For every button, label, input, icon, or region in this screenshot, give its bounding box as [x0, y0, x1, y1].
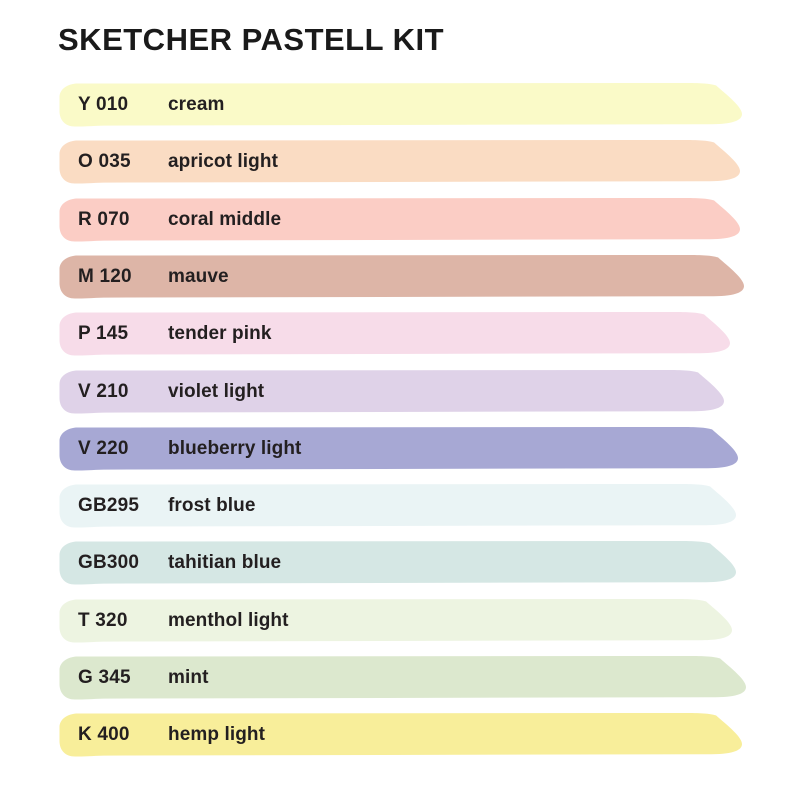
- color-swatch-stroke: [58, 82, 744, 128]
- swatch-list: Y 010creamO 035apricot lightR 070coral m…: [0, 0, 800, 800]
- swatch-name: tahitian blue: [168, 540, 281, 586]
- color-swatch-page: SKETCHER PASTELL KIT Y 010creamO 035apri…: [0, 0, 800, 800]
- swatch-name: coral middle: [168, 197, 281, 243]
- swatch-code: T 320: [78, 598, 128, 644]
- color-swatch-stroke: [58, 197, 742, 243]
- swatch-name: violet light: [168, 369, 264, 415]
- swatch-name: mint: [168, 655, 209, 701]
- color-swatch-stroke: [58, 311, 732, 357]
- swatch-row[interactable]: G 345mint: [58, 655, 748, 701]
- swatch-code: K 400: [78, 712, 130, 758]
- swatch-row[interactable]: P 145tender pink: [58, 311, 732, 357]
- swatch-code: V 210: [78, 369, 129, 415]
- color-swatch-stroke: [58, 369, 726, 415]
- color-swatch-stroke: [58, 426, 740, 472]
- swatch-code: GB300: [78, 540, 139, 586]
- swatch-name: mauve: [168, 254, 229, 300]
- swatch-name: tender pink: [168, 311, 272, 357]
- swatch-row[interactable]: O 035apricot light: [58, 139, 742, 185]
- swatch-code: R 070: [78, 197, 130, 243]
- swatch-code: GB295: [78, 483, 139, 529]
- swatch-name: apricot light: [168, 139, 278, 185]
- swatch-row[interactable]: Y 010cream: [58, 82, 744, 128]
- color-swatch-stroke: [58, 139, 742, 185]
- swatch-row[interactable]: M 120mauve: [58, 254, 746, 300]
- swatch-name: blueberry light: [168, 426, 301, 472]
- color-swatch-stroke: [58, 712, 744, 758]
- swatch-row[interactable]: V 220blueberry light: [58, 426, 740, 472]
- swatch-name: hemp light: [168, 712, 265, 758]
- swatch-row[interactable]: GB300tahitian blue: [58, 540, 738, 586]
- color-swatch-stroke: [58, 598, 734, 644]
- swatch-code: P 145: [78, 311, 128, 357]
- swatch-code: M 120: [78, 254, 132, 300]
- swatch-row[interactable]: GB295frost blue: [58, 483, 738, 529]
- swatch-row[interactable]: T 320menthol light: [58, 598, 734, 644]
- color-swatch-stroke: [58, 483, 738, 529]
- swatch-row[interactable]: K 400hemp light: [58, 712, 744, 758]
- color-swatch-stroke: [58, 655, 748, 701]
- swatch-code: V 220: [78, 426, 129, 472]
- color-swatch-stroke: [58, 540, 738, 586]
- swatch-code: Y 010: [78, 82, 128, 128]
- swatch-code: G 345: [78, 655, 131, 701]
- swatch-row[interactable]: R 070coral middle: [58, 197, 742, 243]
- color-swatch-stroke: [58, 254, 746, 300]
- swatch-row[interactable]: V 210violet light: [58, 369, 726, 415]
- swatch-code: O 035: [78, 139, 131, 185]
- swatch-name: menthol light: [168, 598, 289, 644]
- swatch-name: cream: [168, 82, 225, 128]
- swatch-name: frost blue: [168, 483, 256, 529]
